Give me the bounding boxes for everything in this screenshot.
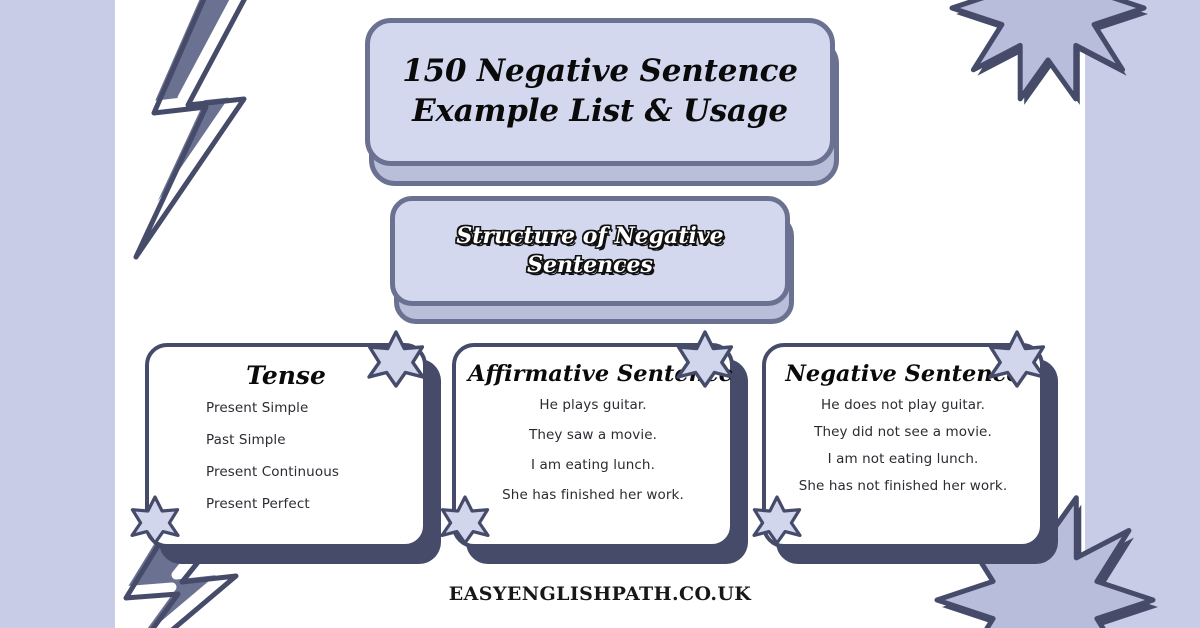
list-item: Present Perfect xyxy=(206,496,310,512)
card-tense-face: Tense Present Simple Past Simple Present… xyxy=(145,343,427,548)
list-item: They saw a movie. xyxy=(529,427,657,443)
list-item: She has finished her work. xyxy=(502,487,684,503)
card-affirmative-face: Affirmative Sentence He plays guitar. Th… xyxy=(452,343,734,548)
card-tense-list: Present Simple Past Simple Present Conti… xyxy=(161,400,411,528)
card-affirmative: Affirmative Sentence He plays guitar. Th… xyxy=(452,343,734,548)
card-tense-title: Tense xyxy=(161,361,411,390)
list-item: She has not finished her work. xyxy=(799,478,1008,494)
list-item: He does not play guitar. xyxy=(821,397,985,413)
section-subtitle-line2: Sentences xyxy=(527,252,653,278)
card-affirmative-list: He plays guitar. They saw a movie. I am … xyxy=(468,397,718,517)
list-item: Present Continuous xyxy=(206,464,339,480)
list-item: I am not eating lunch. xyxy=(828,451,979,467)
section-subtitle-line1: Structure of Negative xyxy=(456,223,723,249)
card-negative: Negative Sentence He does not play guita… xyxy=(762,343,1044,548)
page-title: 150 Negative Sentence Example List & Usa… xyxy=(370,52,830,131)
main-title-box-face: 150 Negative Sentence Example List & Usa… xyxy=(365,18,835,166)
section-subtitle: Structure of Negative Sentences xyxy=(395,222,785,279)
list-item: They did not see a movie. xyxy=(814,424,992,440)
card-affirmative-title: Affirmative Sentence xyxy=(468,361,718,387)
card-negative-list: He does not play guitar. They did not se… xyxy=(778,397,1028,505)
card-negative-title: Negative Sentence xyxy=(778,361,1028,387)
subtitle-box: Structure of Negative Sentences xyxy=(390,196,790,306)
card-negative-face: Negative Sentence He does not play guita… xyxy=(762,343,1044,548)
page-title-line1: 150 Negative Sentence xyxy=(402,53,798,89)
list-item: Present Simple xyxy=(206,400,308,416)
footer-url: EASYENGLISHPATH.CO.UK xyxy=(0,583,1200,605)
list-item: He plays guitar. xyxy=(539,397,646,413)
list-item: Past Simple xyxy=(206,432,286,448)
main-title-box: 150 Negative Sentence Example List & Usa… xyxy=(365,18,835,166)
infographic-canvas: 150 Negative Sentence Example List & Usa… xyxy=(0,0,1200,628)
page-title-line2: Example List & Usage xyxy=(412,93,788,129)
subtitle-box-face: Structure of Negative Sentences xyxy=(390,196,790,306)
list-item: I am eating lunch. xyxy=(531,457,655,473)
card-tense: Tense Present Simple Past Simple Present… xyxy=(145,343,427,548)
